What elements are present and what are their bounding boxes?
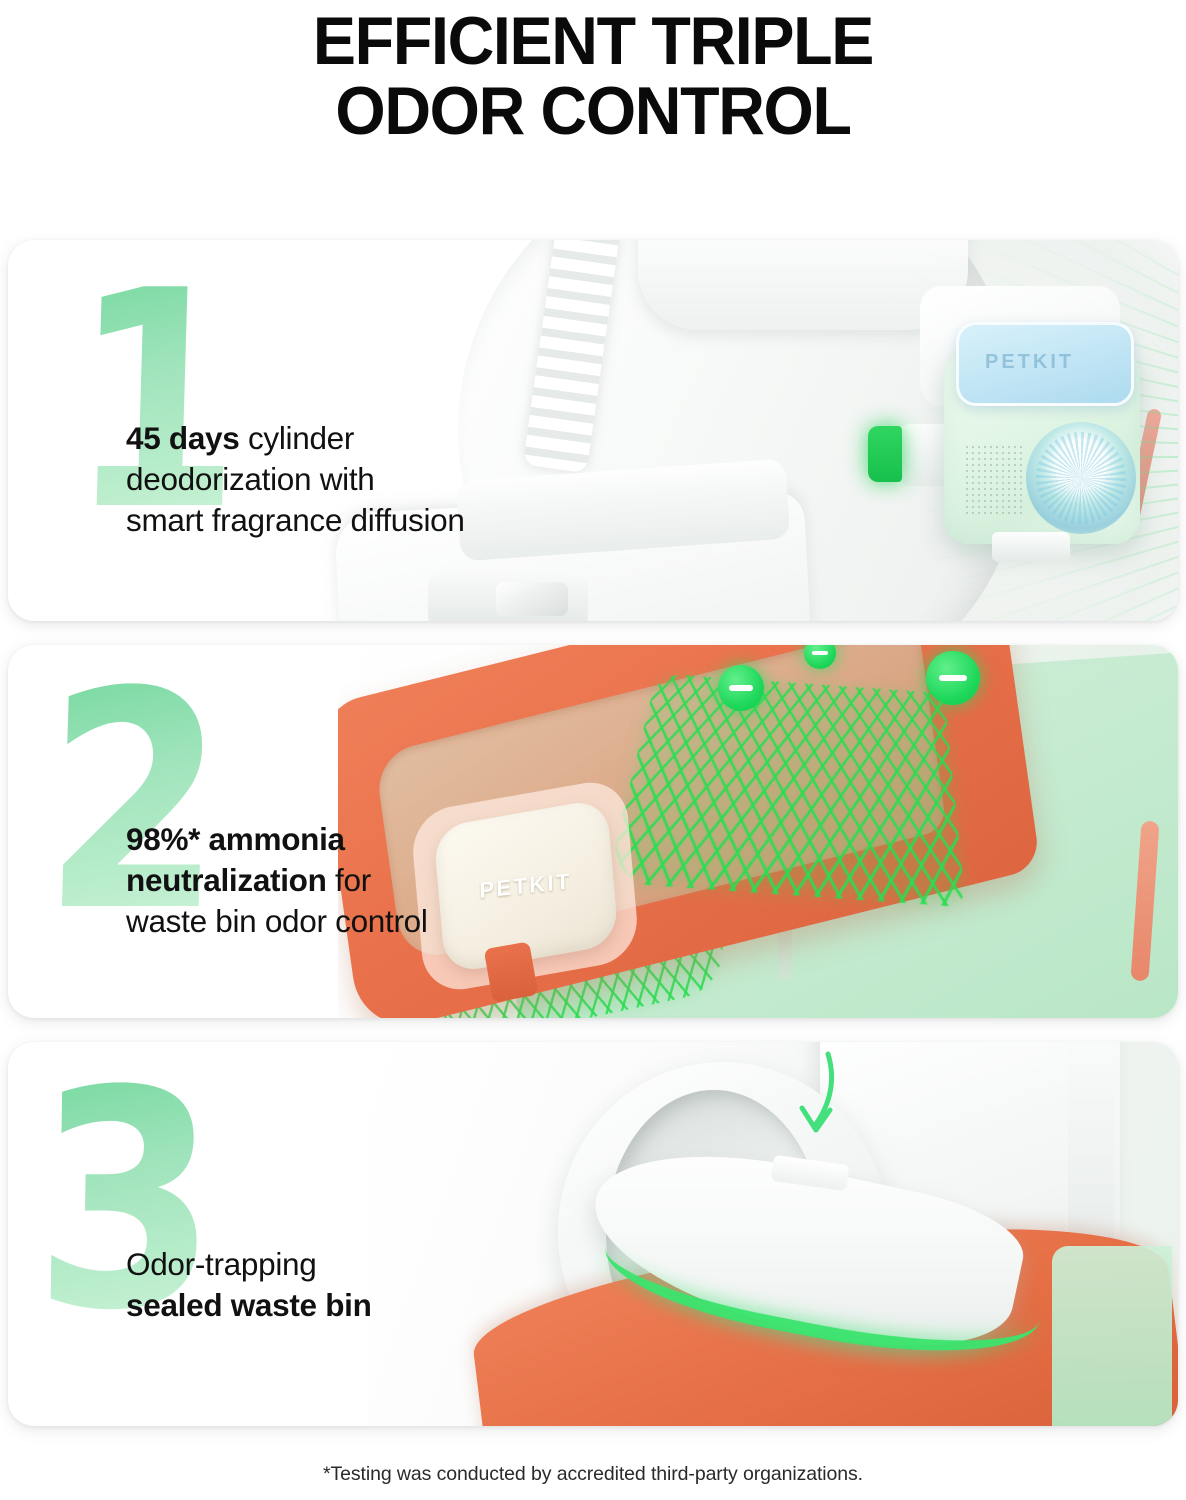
card-2-text: 98%* ammonia neutralization for waste bi… — [126, 778, 596, 942]
fragrance-ray — [888, 406, 1178, 454]
diffuser-nozzle-icon — [868, 426, 902, 482]
footnote-disclaimer: *Testing was conducted by accredited thi… — [0, 1463, 1186, 1486]
fragrance-ray — [930, 240, 1178, 454]
bin-side-panel — [820, 1042, 1120, 1316]
page-title: EFFICIENT TRIPLE ODOR CONTROL — [30, 0, 1157, 146]
sealing-flap — [578, 1127, 1032, 1373]
bin-panel-edge — [1068, 1042, 1114, 1312]
page-title-line-1: EFFICIENT TRIPLE — [30, 6, 1157, 76]
bin-side-rail — [1130, 821, 1159, 982]
fragrance-ray — [909, 452, 1178, 620]
cartridge-backdrop — [920, 286, 1120, 406]
cartridge-foot-clip — [992, 532, 1070, 562]
lid-pull-tab — [484, 941, 539, 1002]
anion-minus-icon — [804, 645, 836, 669]
anion-minus-icon — [926, 651, 980, 705]
waste-bin-body — [496, 651, 1178, 1018]
red-trim-accent — [1124, 408, 1163, 528]
fragrance-ray — [948, 452, 1178, 621]
diffuser-spout — [896, 424, 966, 486]
card-1-text: 45 days cylinder deodorization with smar… — [126, 377, 626, 541]
drum-opening — [606, 1090, 822, 1376]
anion-mesh-overlay — [606, 673, 966, 907]
bin-interior — [524, 1259, 1108, 1426]
fragrance-ray — [894, 353, 1178, 455]
page-title-line-2: ODOR CONTROL — [30, 76, 1157, 146]
card-1-text-bold: 45 days — [126, 420, 240, 456]
down-arrow-icon — [786, 1050, 846, 1156]
card-3-text-bold: sealed waste bin — [126, 1287, 372, 1323]
rotating-drum — [558, 1062, 888, 1402]
fragrance-ray — [897, 452, 1178, 568]
fragrance-ray — [902, 452, 1178, 595]
feature-card-list: 1 PETKIT 45 days cyli — [8, 240, 1178, 1426]
fragrance-ray — [953, 240, 1178, 454]
fragrance-ray — [886, 433, 1178, 455]
control-button-plate — [428, 570, 588, 621]
fragrance-ray — [890, 379, 1178, 454]
fragrance-ray — [921, 249, 1178, 454]
fragrance-ray — [886, 452, 1178, 462]
fragrance-ray — [960, 452, 1178, 621]
fragrance-ray — [966, 240, 1178, 454]
fragrance-ray — [905, 300, 1178, 454]
fragrance-ray — [889, 452, 1178, 515]
fragrance-ray — [941, 240, 1178, 454]
fragrance-ray — [887, 452, 1178, 489]
card-3-text-rest: Odor-trapping — [126, 1246, 316, 1282]
fragrance-ray — [988, 452, 1178, 621]
anion-minus-icon — [718, 665, 764, 711]
cartridge-brand-label: PETKIT — [985, 351, 1074, 374]
feature-card-2: 2 PETKIT 98%* ammonia neutralization for… — [8, 645, 1178, 1018]
cartridge-fan — [1026, 422, 1136, 534]
fragrance-ray — [936, 452, 1178, 621]
card-2-text-bold: 98%* ammonia neutralization — [126, 821, 345, 898]
bin-support-post — [778, 885, 792, 980]
feature-card-3: 3 Odor-trapping sealed waste bin — [8, 1042, 1178, 1426]
flap-notch — [771, 1155, 850, 1191]
cartridge-vent-grille — [964, 444, 1026, 516]
green-side-strip — [1052, 1246, 1172, 1426]
cartridge-lid: PETKIT — [956, 322, 1134, 406]
green-seal-gasket — [597, 1177, 1052, 1379]
fragrance-cartridge: PETKIT — [944, 348, 1140, 544]
fragrance-ray — [912, 275, 1178, 455]
fragrance-ray — [926, 452, 1178, 621]
fragrance-ray — [973, 452, 1178, 621]
fragrance-ray — [917, 452, 1178, 621]
card-3-text: Odor-trapping sealed waste bin — [126, 1203, 596, 1326]
fragrance-ray — [892, 452, 1178, 542]
feature-card-1: 1 PETKIT 45 days cyli — [8, 240, 1178, 621]
litter-box-rim — [638, 240, 968, 330]
fragrance-ray — [899, 326, 1178, 454]
